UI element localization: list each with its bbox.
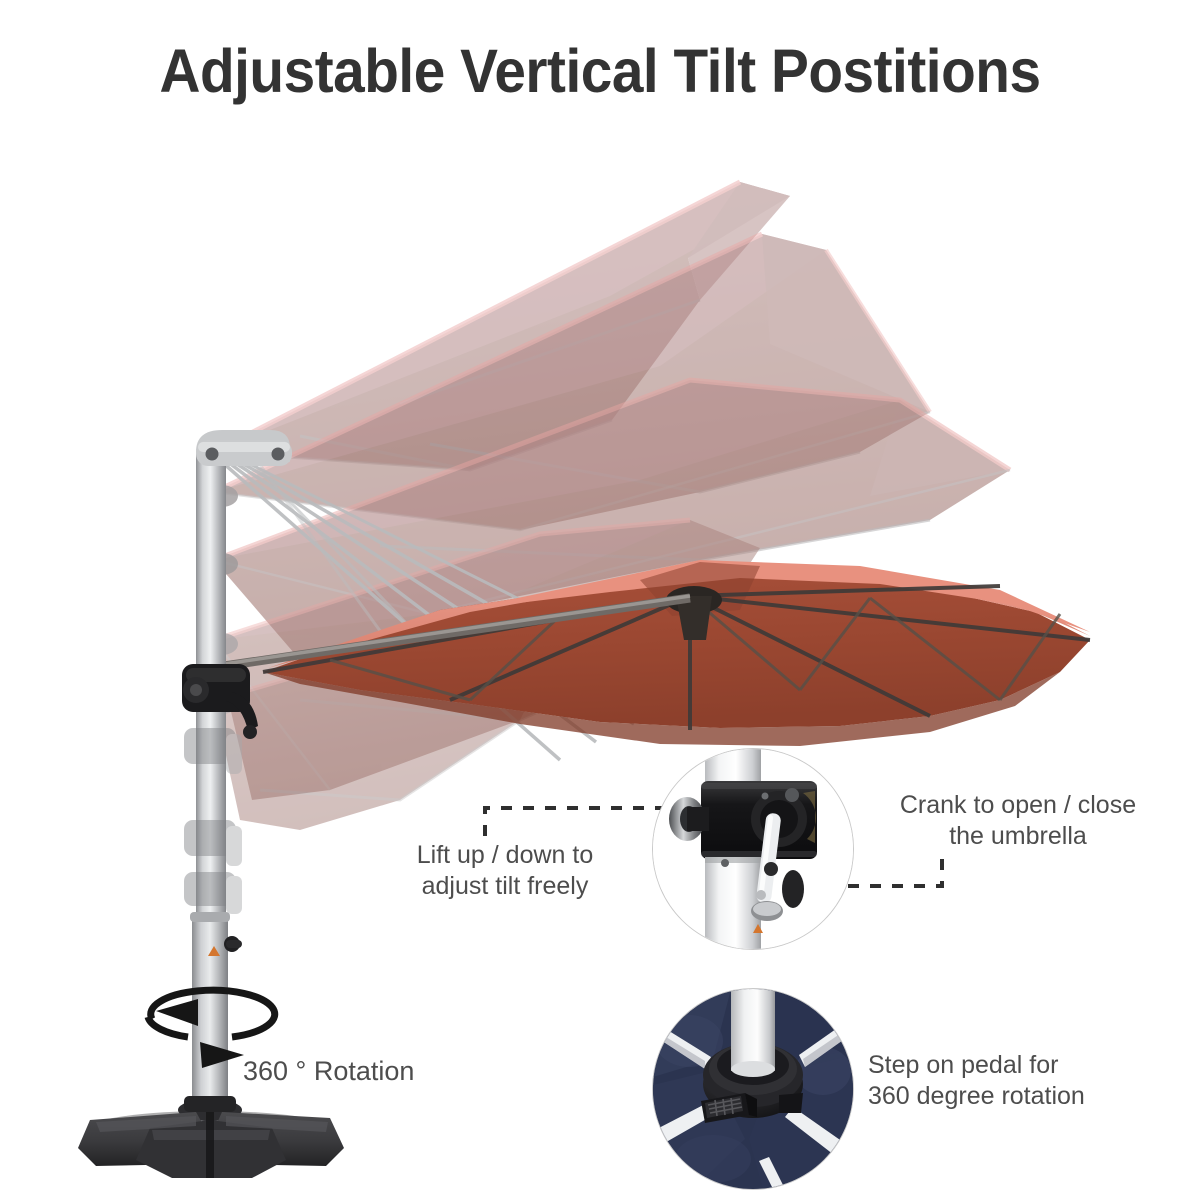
ghost-tilt-position-4 [206, 520, 760, 800]
support-cables [222, 462, 700, 760]
annotation-lift-tilt: Lift up / down to adjust tilt freely [385, 840, 625, 901]
annotation-rotation: 360 ° Rotation [243, 1055, 503, 1088]
detail-photo-crank-mechanism [652, 748, 854, 950]
ghost-tilt-housings [184, 728, 242, 914]
detail-photo-rotation-pedal [652, 988, 854, 1190]
ghost-tilt-position-1 [206, 182, 790, 470]
ghost-tilt-position-5 [207, 640, 560, 830]
infographic-canvas: Adjustable Vertical Tilt Postitions [0, 0, 1200, 1200]
annotation-pedal: Step on pedal for 360 degree rotation [868, 1050, 1168, 1111]
canopy-cross-stretchers [330, 596, 1060, 700]
canopy-ribs [263, 586, 1090, 730]
page-title: Adjustable Vertical Tilt Postitions [42, 36, 1158, 106]
umbrella-base [78, 1096, 344, 1178]
annotation-crank: Crank to open / close the umbrella [868, 790, 1168, 851]
umbrella-canopy [224, 560, 1090, 746]
umbrella-illustration [0, 0, 1200, 1200]
crank-housing [182, 664, 258, 739]
ghost-tilt-position-3 [206, 380, 1010, 660]
ghost-tilt-position-2 [206, 234, 930, 530]
umbrella-mast [182, 430, 292, 1130]
